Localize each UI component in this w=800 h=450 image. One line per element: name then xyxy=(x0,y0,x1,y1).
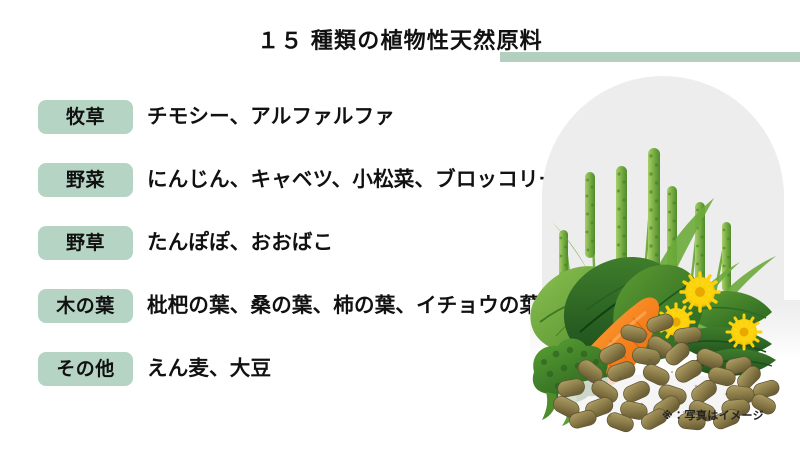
ingredient-items-tree-leaves: 枇杷の葉、桑の葉、柿の葉、イチョウの葉 xyxy=(147,296,540,317)
ingredient-row-other: その他 えん麦、大豆 xyxy=(38,352,271,386)
category-chip-wild-herbs: 野草 xyxy=(38,226,133,260)
category-chip-label: 野草 xyxy=(66,234,105,253)
ingredient-row-grass: 牧草 チモシー、アルファルファ xyxy=(38,100,395,134)
category-chip-label: その他 xyxy=(56,360,115,379)
category-chip-tree-leaves: 木の葉 xyxy=(38,289,133,323)
category-chip-label: 野菜 xyxy=(66,171,105,190)
product-photo: ※：写真はイメージ xyxy=(500,60,800,450)
ingredient-items-other: えん麦、大豆 xyxy=(147,359,271,380)
category-chip-grass: 牧草 xyxy=(38,100,133,134)
product-ingredient-panel: １５ 種類の植物性天然原料 牧草 チモシー、アルファルファ 野菜 にんじん、キャ… xyxy=(0,0,800,450)
category-chip-label: 木の葉 xyxy=(56,297,115,316)
ingredient-row-wild-herbs: 野草 たんぽぽ、おおばこ xyxy=(38,226,333,260)
ingredient-items-wild-herbs: たんぽぽ、おおばこ xyxy=(147,233,333,254)
category-chip-label: 牧草 xyxy=(66,108,105,127)
photo-footnote: ※：写真はイメージ xyxy=(662,407,764,423)
category-chip-vegetables: 野菜 xyxy=(38,163,133,197)
ingredient-photo-illustration xyxy=(500,60,800,450)
ingredient-row-tree-leaves: 木の葉 枇杷の葉、桑の葉、柿の葉、イチョウの葉 xyxy=(38,289,540,323)
ingredient-items-grass: チモシー、アルファルファ xyxy=(147,107,395,128)
category-chip-other: その他 xyxy=(38,352,133,386)
